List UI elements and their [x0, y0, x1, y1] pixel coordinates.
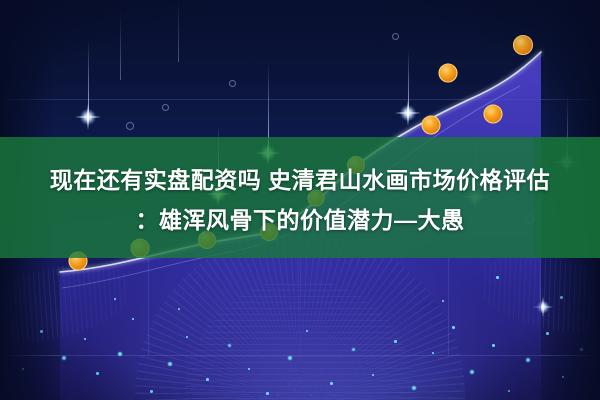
title-line-1: 现在还有实盘配资吗 史清君山水画市场价格评估 — [50, 161, 550, 195]
page-title: 现在还有实盘配资吗 史清君山水画市场价格评估 ：雄浑风骨下的价值潜力—大愚 — [0, 137, 600, 258]
thumbnail-image: 现在还有实盘配资吗 史清君山水画市场价格评估 ：雄浑风骨下的价值潜力—大愚 — [0, 0, 600, 400]
title-line-2: ：雄浑风骨下的价值潜力—大愚 — [136, 201, 465, 235]
